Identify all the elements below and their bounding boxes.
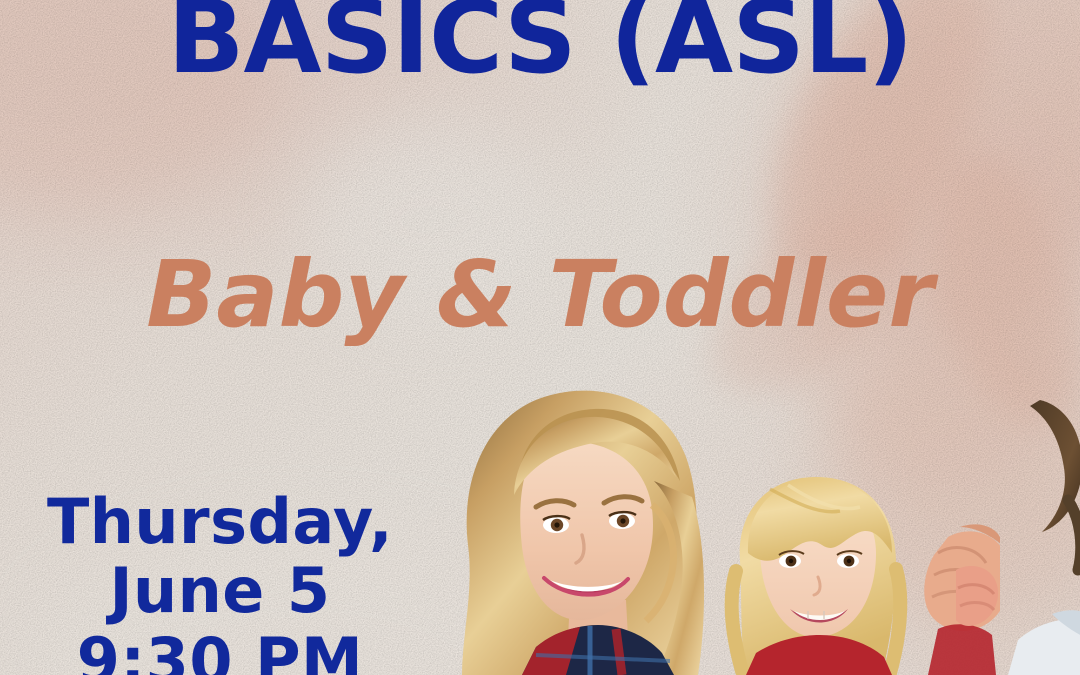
event-flyer: BASICS (ASL) Baby & Toddler Thursday, Ju… [0, 0, 1080, 675]
partial-person-right-edge [956, 400, 1080, 675]
page-title: BASICS (ASL) [0, 0, 1080, 103]
event-time: 9:30 PM [20, 626, 420, 675]
event-day: Thursday, [20, 487, 420, 556]
event-date: June 5 [20, 556, 420, 625]
woman-and-toddler-photo [440, 385, 1000, 675]
event-datetime: Thursday, June 5 9:30 PM [20, 487, 420, 675]
subtitle: Baby & Toddler [0, 243, 1080, 346]
